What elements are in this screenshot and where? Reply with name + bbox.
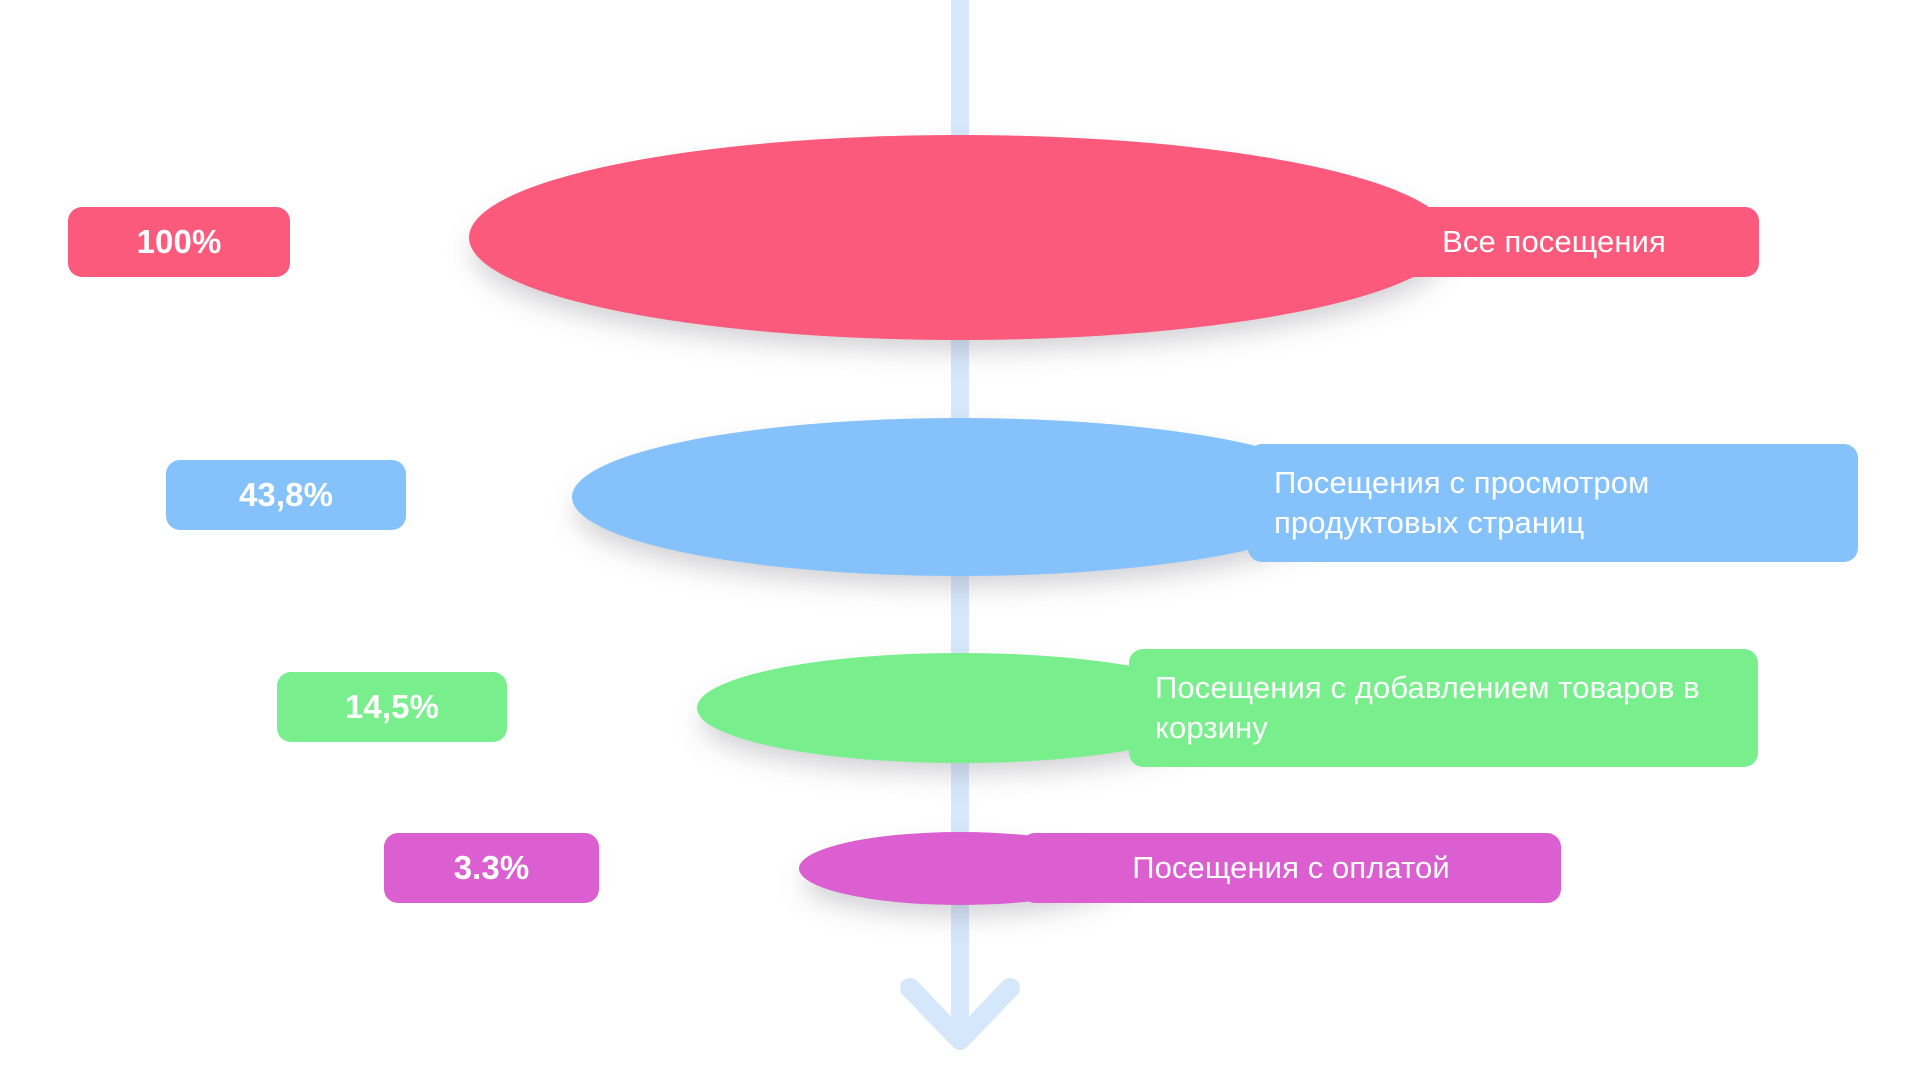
- funnel-percent-badge-add-to-cart[interactable]: 14,5%: [277, 672, 507, 742]
- funnel-percent-badge-paid-visits[interactable]: 3.3%: [384, 833, 599, 903]
- funnel-stage-ellipse-all-visits[interactable]: [469, 135, 1451, 340]
- funnel-percent-badge-product-page-views[interactable]: 43,8%: [166, 460, 406, 530]
- funnel-label-pill-paid-visits[interactable]: Посещения с оплатой: [1021, 833, 1561, 903]
- funnel-label-pill-product-page-views[interactable]: Посещения с просмотром продуктовых стран…: [1248, 444, 1858, 562]
- funnel-label-pill-add-to-cart[interactable]: Посещения с добавлением товаров в корзин…: [1129, 649, 1758, 767]
- funnel-arrow-down-icon: [890, 930, 1030, 1060]
- funnel-percent-value-paid-visits: 3.3%: [454, 849, 530, 887]
- funnel-label-text-add-to-cart: Посещения с добавлением товаров в корзин…: [1155, 668, 1732, 747]
- funnel-stage-ellipse-product-page-views[interactable]: [572, 418, 1348, 576]
- funnel-percent-value-product-page-views: 43,8%: [239, 476, 333, 514]
- funnel-percent-value-add-to-cart: 14,5%: [345, 688, 439, 726]
- funnel-label-pill-all-visits[interactable]: Все посещения: [1349, 207, 1759, 277]
- funnel-percent-badge-all-visits[interactable]: 100%: [68, 207, 290, 277]
- funnel-label-text-all-visits: Все посещения: [1442, 222, 1666, 262]
- funnel-label-text-product-page-views: Посещения с просмотром продуктовых стран…: [1274, 463, 1832, 542]
- funnel-percent-value-all-visits: 100%: [137, 223, 222, 261]
- funnel-chart: 100% Все посещения 43,8% Посещения с про…: [0, 0, 1920, 1080]
- funnel-label-text-paid-visits: Посещения с оплатой: [1132, 848, 1450, 888]
